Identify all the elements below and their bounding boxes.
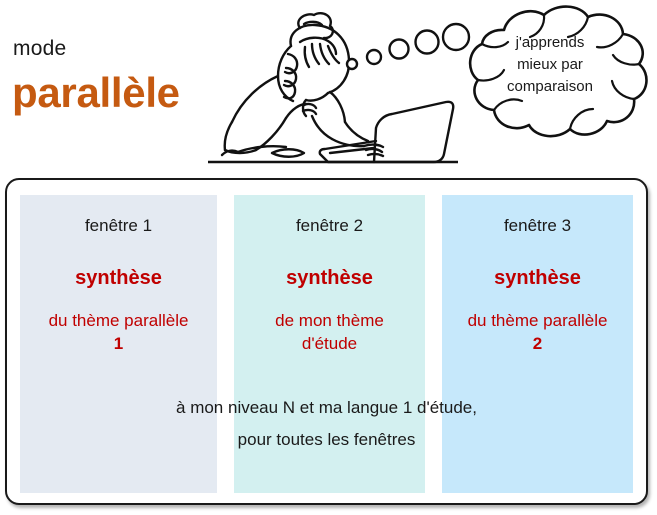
synthesis-desc-1: du thème parallèle 1 [20,310,217,356]
window-column-1: fenêtre 1 synthèse du thème parallèle 1 [20,195,217,493]
synthesis-label-1: synthèse [20,268,217,288]
window-title-3: fenêtre 3 [442,217,633,234]
thought-line-3: comparaison [470,76,630,98]
synthesis-desc-3-line-1: du thème parallèle [446,310,629,333]
synthesis-desc-1-line-1: du thème parallèle [24,310,213,333]
window-column-3: fenêtre 3 synthèse du thème parallèle 2 [442,195,633,493]
thought-line-1: j'apprends [470,32,630,54]
window-column-2: fenêtre 2 synthèse de mon thème d'étude [234,195,425,493]
synthesis-desc-3-line-2: 2 [446,333,629,356]
window-title-1: fenêtre 1 [20,217,217,234]
synthesis-label-3: synthèse [442,268,633,288]
synthesis-desc-3: du thème parallèle 2 [442,310,633,356]
synthesis-desc-2-line-1: de mon thème [238,310,421,333]
synthesis-desc-2-line-2: d'étude [238,333,421,356]
synthesis-desc-1-line-2: 1 [24,333,213,356]
window-title-2: fenêtre 2 [234,217,425,234]
synthesis-label-2: synthèse [234,268,425,288]
synthesis-desc-2: de mon thème d'étude [234,310,425,356]
mode-title: parallèle [12,72,180,114]
mode-label: mode [13,38,66,59]
thought-line-2: mieux par [470,54,630,76]
header-area: mode parallèle [0,0,657,175]
thought-bubble-text: j'apprends mieux par comparaison [470,32,630,97]
